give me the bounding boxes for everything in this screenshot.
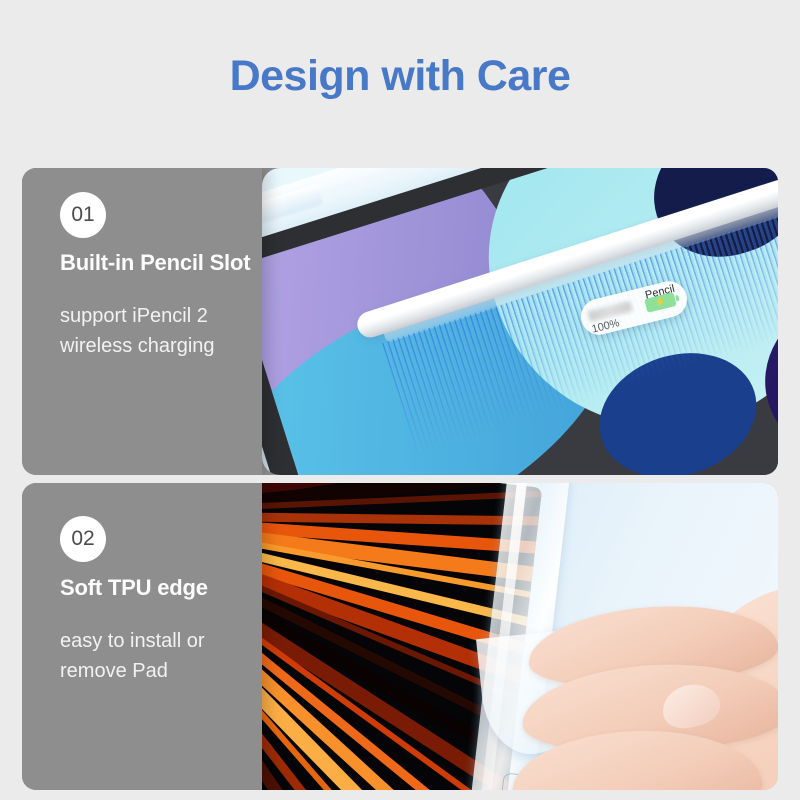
card-2-product-photo	[262, 483, 778, 790]
card-2-text-panel: 02 Soft TPU edge easy to install or remo…	[22, 483, 262, 790]
card-1-product-photo: Pencil 100% ⚡	[262, 168, 778, 475]
card-1-number-badge: 01	[60, 192, 106, 238]
card-1-body-text: support iPencil 2 wireless charging	[60, 301, 260, 361]
card-1-text-panel: 01 Built-in Pencil Slot support iPencil …	[22, 168, 262, 475]
card-2-number-badge: 02	[60, 516, 106, 562]
charging-bolt-icon: ⚡	[654, 296, 668, 309]
page-title: Design with Care	[0, 50, 800, 102]
feature-card-2: 02 Soft TPU edge easy to install or remo…	[22, 483, 778, 790]
feature-card-1: 01 Built-in Pencil Slot support iPencil …	[22, 168, 778, 475]
hand-holding-case	[512, 591, 778, 790]
card-1-heading: Built-in Pencil Slot	[60, 250, 250, 276]
card-2-heading: Soft TPU edge	[60, 575, 208, 601]
card-2-body-text: easy to install or remove Pad	[60, 626, 260, 686]
